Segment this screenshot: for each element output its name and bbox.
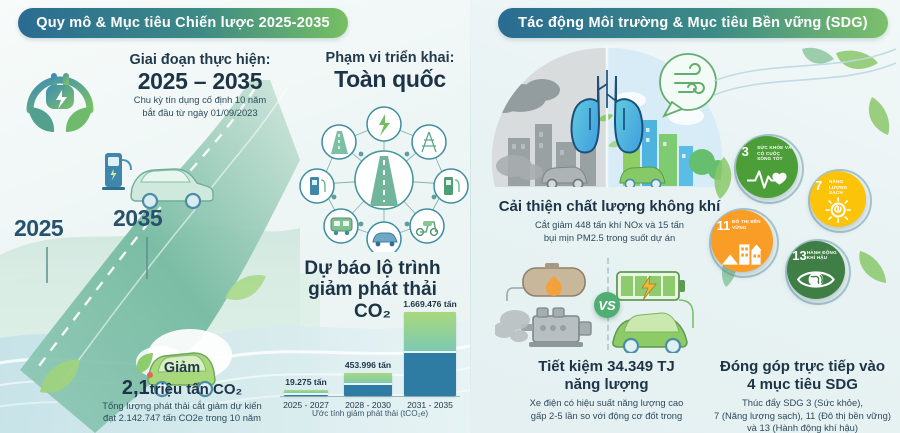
energy-note-1: Xe điện có hiệu suất năng lượng cao xyxy=(484,397,729,410)
scooter-node xyxy=(417,221,438,235)
reduction-value: 2,1triệu tấn CO₂ xyxy=(82,377,282,400)
lungs-icon xyxy=(572,70,643,153)
sdg-badge-7[interactable]: 7 Năng lượng sạch xyxy=(810,171,866,227)
period-value: 2025 – 2035 xyxy=(100,69,300,95)
header-pill-left: Quy mô & Mục tiêu Chiến lược 2025-2035 xyxy=(18,8,348,38)
panel-divider xyxy=(470,0,471,433)
chart-value-label: 453.996 tấn xyxy=(332,360,404,370)
sdg-badge-3-number: 3 xyxy=(742,145,749,158)
air-quality-block: Cải thiện chất lượng không khí Cắt giảm … xyxy=(482,198,737,244)
chart-value-label: 19.275 tấn xyxy=(272,377,340,387)
right-panel: Cải thiện chất lượng không khí Cắt giảm … xyxy=(470,0,900,433)
chart-axis-caption: Ước tính giảm phát thải (tCO₂e) xyxy=(280,409,460,418)
sdg-badge-13[interactable]: 13 Hành động khí hậu xyxy=(787,241,845,299)
reduction-block: Giảm 2,1triệu tấn CO₂ Tổng lượng phát th… xyxy=(82,360,282,425)
chart-bar-bottom xyxy=(404,351,456,396)
wind-bubble-icon xyxy=(660,54,716,116)
timeline-start-year: 2025 xyxy=(14,215,63,242)
car-node xyxy=(373,233,397,246)
period-block: Giai đoạn thực hiện: 2025 – 2035 Chu kỳ … xyxy=(100,52,300,120)
period-kicker: Giai đoạn thực hiện: xyxy=(100,52,300,69)
sdg-badge-13-title: Hành động khí hậu xyxy=(807,250,842,261)
sdg-badge-11-title: Đô thị bền vững xyxy=(732,219,769,230)
air-quality-title: Cải thiện chất lượng không khí xyxy=(482,198,737,216)
scope-block: Phạm vi triển khai: Toàn quốc xyxy=(310,50,470,92)
sdg-note-2: 7 (Năng lượng sạch), 11 (Đô thị bền vững… xyxy=(705,410,900,423)
sdg-badge-11-number: 11 xyxy=(717,219,731,232)
air-quality-note-2: bụi mịn PM2.5 trong suốt dự án xyxy=(482,232,737,245)
scope-value: Toàn quốc xyxy=(310,67,470,93)
reduction-number: 2,1 xyxy=(122,377,150,399)
ev-car-icon xyxy=(613,300,693,353)
timeline-end-year: 2035 xyxy=(113,205,162,232)
scope-kicker: Phạm vi triển khai: xyxy=(310,50,470,67)
sun-energy-icon xyxy=(818,195,858,223)
emission-bar-chart: 19.275 tấn2025 - 2027453.996 tấn2028 - 2… xyxy=(280,300,460,396)
network-diagram-illustration xyxy=(297,102,472,252)
period-note-2: bắt đầu từ ngày 01/09/2023 xyxy=(100,107,300,120)
bus-node xyxy=(331,218,352,235)
reduction-note-1: Tổng lượng phát thải cắt giảm dự kiến xyxy=(82,400,282,413)
reduction-kicker: Giảm xyxy=(82,360,282,377)
charger-node-right xyxy=(444,177,459,195)
charger-node-left xyxy=(310,177,325,195)
chart-title-line-1: Dự báo lộ trình xyxy=(290,258,455,279)
battery-icon xyxy=(617,272,685,300)
chart-bar xyxy=(404,312,456,396)
energy-title-line-2: năng lượng xyxy=(484,376,729,394)
reduction-note-2: đạt 2.142.747 tấn CO2e trong 10 năm xyxy=(82,412,282,425)
eco-plug-icon xyxy=(14,52,106,144)
sdg-badge-3-title: Sức khỏe và có cuộc sống tốt xyxy=(757,145,794,162)
sdg-block: Đóng góp trực tiếp vào 4 mục tiêu SDG Th… xyxy=(705,358,900,433)
chart-bar-split xyxy=(284,393,328,395)
chart-bar-top xyxy=(344,373,392,383)
climate-eye-icon xyxy=(795,265,837,294)
vs-badge: VS xyxy=(594,292,620,318)
timeline-end-tick xyxy=(146,237,148,279)
sdg-badge-7-number: 7 xyxy=(815,179,822,192)
chart-value-label: 1.669.476 tấn xyxy=(392,299,468,309)
sdg-badge-13-number: 13 xyxy=(792,249,806,262)
air-quality-illustration xyxy=(490,42,725,192)
energy-note-2: gấp 2-5 lần so với động cơ đốt trong xyxy=(484,410,729,423)
city-icon xyxy=(720,236,765,267)
electric-car-illustration xyxy=(131,169,213,208)
energy-block: Tiết kiệm 34.349 TJ năng lượng Xe điện c… xyxy=(484,358,729,422)
sdg-note-1: Thúc đẩy SDG 3 (Sức khỏe), xyxy=(705,397,900,410)
sdg-badge-7-title: Năng lượng sạch xyxy=(829,179,863,196)
sdg-badge-3[interactable]: 3 Sức khỏe và có cuộc sống tốt xyxy=(736,136,798,198)
chart-bar-top xyxy=(404,312,456,351)
chart-bar-split xyxy=(344,383,392,385)
chart-bar-bottom xyxy=(344,383,392,396)
sdg-title-line-1: Đóng góp trực tiếp vào xyxy=(705,358,900,376)
energy-title-line-1: Tiết kiệm 34.349 TJ xyxy=(484,358,729,376)
chart-bar-split xyxy=(404,351,456,353)
exhaust-smoke xyxy=(495,310,530,342)
air-quality-note-1: Cắt giảm 448 tấn khí NOx và 15 tấn xyxy=(482,219,737,232)
sdg-badge-11[interactable]: 11 Đô thị bền vững xyxy=(711,210,773,272)
combustion-engine-icon xyxy=(521,308,591,347)
sdg-title-line-2: 4 mục tiêu SDG xyxy=(705,376,900,394)
reduction-unit: triệu tấn CO₂ xyxy=(150,381,243,398)
header-pill-right: Tác động Môi trường & Mục tiêu Bền vững … xyxy=(498,8,888,38)
timeline-start-tick xyxy=(46,247,48,283)
period-note-1: Chu kỳ tín dụng cố định 10 năm xyxy=(100,94,300,107)
charging-station-illustration xyxy=(102,153,131,190)
sdg-note-3: và 13 (Hành động khí hậu) xyxy=(705,422,900,433)
infographic-canvas: Giai đoạn thực hiện: 2025 – 2035 Chu kỳ … xyxy=(0,0,900,433)
heartbeat-icon xyxy=(745,162,790,193)
left-panel: Giai đoạn thực hiện: 2025 – 2035 Chu kỳ … xyxy=(0,0,470,433)
chart-axis-line xyxy=(280,396,460,397)
chart-bar xyxy=(344,373,392,396)
chart-bar xyxy=(284,390,328,396)
fuel-tank-icon xyxy=(507,263,585,301)
